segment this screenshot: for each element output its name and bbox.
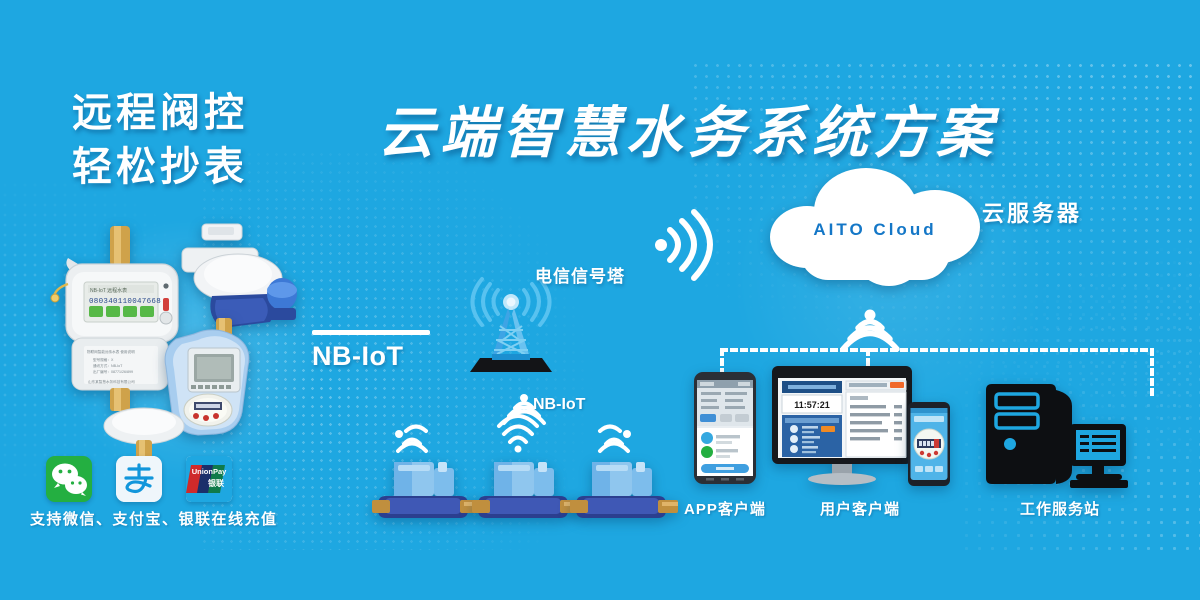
wifi-signal-tower-to-cloud xyxy=(648,208,710,280)
unionpay-icon[interactable]: UnionPay 银联 xyxy=(186,456,232,502)
svg-text:物联网智能远传水表 使用说明: 物联网智能远传水表 使用说明 xyxy=(87,349,135,354)
wifi-icon-meter-3 xyxy=(592,422,636,456)
svg-text:山东某智慧水务科技有限公司: 山东某智慧水务科技有限公司 xyxy=(88,379,135,384)
svg-text:型号规格：X: 型号规格：X xyxy=(93,357,114,362)
kicker-line-1: 远程阀控 xyxy=(72,86,248,140)
wifi-icon-meter-2 xyxy=(496,418,540,452)
tower-label: 电信信号塔 xyxy=(535,262,625,287)
node-label-user-client: 用户客户端 xyxy=(820,498,900,519)
payment-caption: 支持微信、支付宝、银联在线充值 xyxy=(30,508,278,529)
wifi-icon-meter-1 xyxy=(390,422,434,456)
cloud-label: 云服务器 xyxy=(982,196,1082,228)
svg-text:银联: 银联 xyxy=(207,478,224,488)
desktop-monitor-icon: 11:57:21 xyxy=(772,366,912,486)
payment-logos: UnionPay 银联 xyxy=(46,456,232,502)
svg-text:NB-IoT 远程水表: NB-IoT 远程水表 xyxy=(90,287,127,294)
alipay-icon[interactable] xyxy=(116,456,162,502)
smart-water-meter-2 xyxy=(472,462,580,524)
kicker-line-2: 轻松抄表 xyxy=(72,140,248,194)
server-tower-icon xyxy=(984,382,1132,490)
kicker-headline: 远程阀控 轻松抄表 xyxy=(72,86,248,194)
node-label-app-client: APP客户端 xyxy=(684,498,766,519)
node-label-work-station: 工作服务站 xyxy=(1020,498,1100,519)
water-meter-partial xyxy=(96,404,192,460)
smartphone-icon xyxy=(694,372,756,484)
svg-text:通讯方式：NB-IoT: 通讯方式：NB-IoT xyxy=(93,363,123,368)
nbiot-secondary-label: NB-IoT xyxy=(533,396,585,414)
nbiot-primary-text: NB-IoT xyxy=(312,341,430,372)
cloud-name: AITO Cloud xyxy=(770,220,980,240)
handheld-meter-reader-icon xyxy=(908,402,950,486)
page-title: 云端智慧水务系统方案 xyxy=(378,88,998,169)
svg-text:080340110047668: 080340110047668 xyxy=(89,298,161,306)
smart-water-meter-1 xyxy=(372,462,480,524)
wechat-icon[interactable] xyxy=(46,456,92,502)
svg-text:出厂编号：08771/26/899: 出厂编号：08771/26/899 xyxy=(93,369,133,374)
nbiot-underline-bar xyxy=(312,330,430,335)
smart-water-meter-3 xyxy=(570,462,678,524)
svg-text:UnionPay: UnionPay xyxy=(192,467,227,476)
monitor-clock: 11:57:21 xyxy=(794,400,830,410)
poster-canvas: 远程阀控 轻松抄表 云端智慧水务系统方案 NB-IoT 远程水表 0803401… xyxy=(0,0,1200,600)
nbiot-primary-label: NB-IoT xyxy=(312,330,430,372)
